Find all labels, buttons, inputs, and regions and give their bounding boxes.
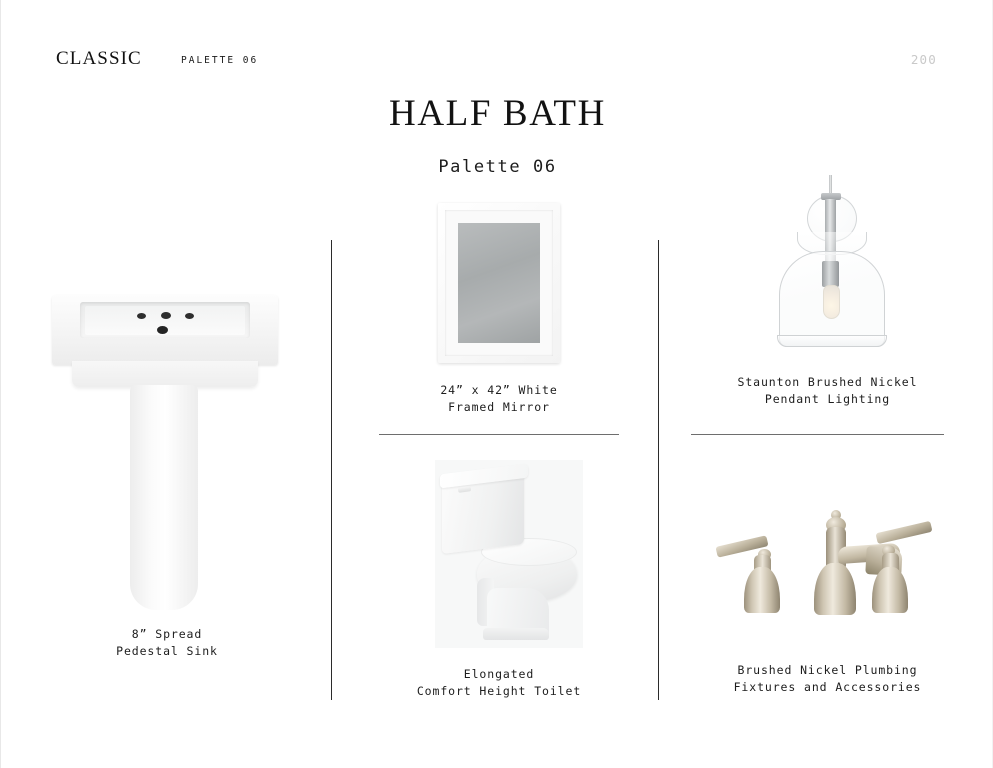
widespread-faucet-icon: [716, 505, 941, 620]
caption-line-2: Framed Mirror: [379, 399, 619, 416]
mirror-bevel-shape: [445, 210, 553, 356]
caption-pendant-lighting: Staunton Brushed Nickel Pendant Lighting: [701, 374, 954, 408]
sink-faucet-hole-center: [161, 312, 171, 319]
pendant-bulb-shape: [823, 285, 840, 319]
framed-mirror-icon: [438, 203, 560, 363]
page-title: HALF BATH: [1, 92, 993, 135]
sink-drain-hole: [157, 326, 168, 334]
caption-line-2: Pedestal Sink: [47, 643, 287, 660]
faucet-right-handle-base: [872, 567, 908, 613]
caption-line-1: Elongated: [379, 666, 619, 683]
faucet-left-handle-base: [744, 567, 780, 613]
divider-vertical-left: [331, 240, 332, 700]
faucet-right-handle-lever: [875, 521, 932, 544]
caption-line-1: 8” Spread: [47, 626, 287, 643]
design-board-page: CLASSIC PALETTE 06 200 HALF BATH Palette…: [0, 0, 993, 768]
caption-line-2: Comfort Height Toilet: [379, 683, 619, 700]
divider-vertical-right: [658, 240, 659, 700]
caption-line-1: 24” x 42” White: [379, 382, 619, 399]
caption-pedestal-sink: 8” Spread Pedestal Sink: [47, 626, 287, 660]
divider-horizontal-center: [379, 434, 619, 435]
page-subtitle: Palette 06: [1, 157, 993, 177]
sink-faucet-hole-left: [137, 313, 146, 319]
toilet-foot-shape: [483, 628, 549, 640]
caption-toilet: Elongated Comfort Height Toilet: [379, 666, 619, 700]
sink-apron-shape: [72, 361, 258, 387]
caption-line-2: Fixtures and Accessories: [701, 679, 954, 696]
brand-label: CLASSIC: [56, 48, 142, 70]
sink-faucet-hole-right: [185, 313, 194, 319]
pedestal-sink-icon: [46, 285, 286, 610]
sink-pedestal-column: [130, 385, 198, 610]
toilet-icon: [435, 460, 583, 648]
mirror-frame-shape: [438, 203, 560, 363]
caption-framed-mirror: 24” x 42” White Framed Mirror: [379, 382, 619, 416]
palette-tag-label: PALETTE 06: [181, 55, 258, 66]
mirror-glass-surface: [458, 223, 540, 343]
pendant-light-icon: [761, 175, 901, 360]
caption-plumbing-fixtures: Brushed Nickel Plumbing Fixtures and Acc…: [701, 662, 954, 696]
sink-basin-shape: [52, 295, 278, 365]
faucet-spout-base: [814, 563, 856, 615]
divider-horizontal-right: [691, 434, 944, 435]
pendant-rim-shape: [777, 335, 887, 347]
pendant-socket-shape: [822, 261, 839, 287]
page-number: 200: [911, 52, 937, 67]
caption-line-2: Pendant Lighting: [701, 391, 954, 408]
caption-line-1: Staunton Brushed Nickel: [701, 374, 954, 391]
caption-line-1: Brushed Nickel Plumbing: [701, 662, 954, 679]
